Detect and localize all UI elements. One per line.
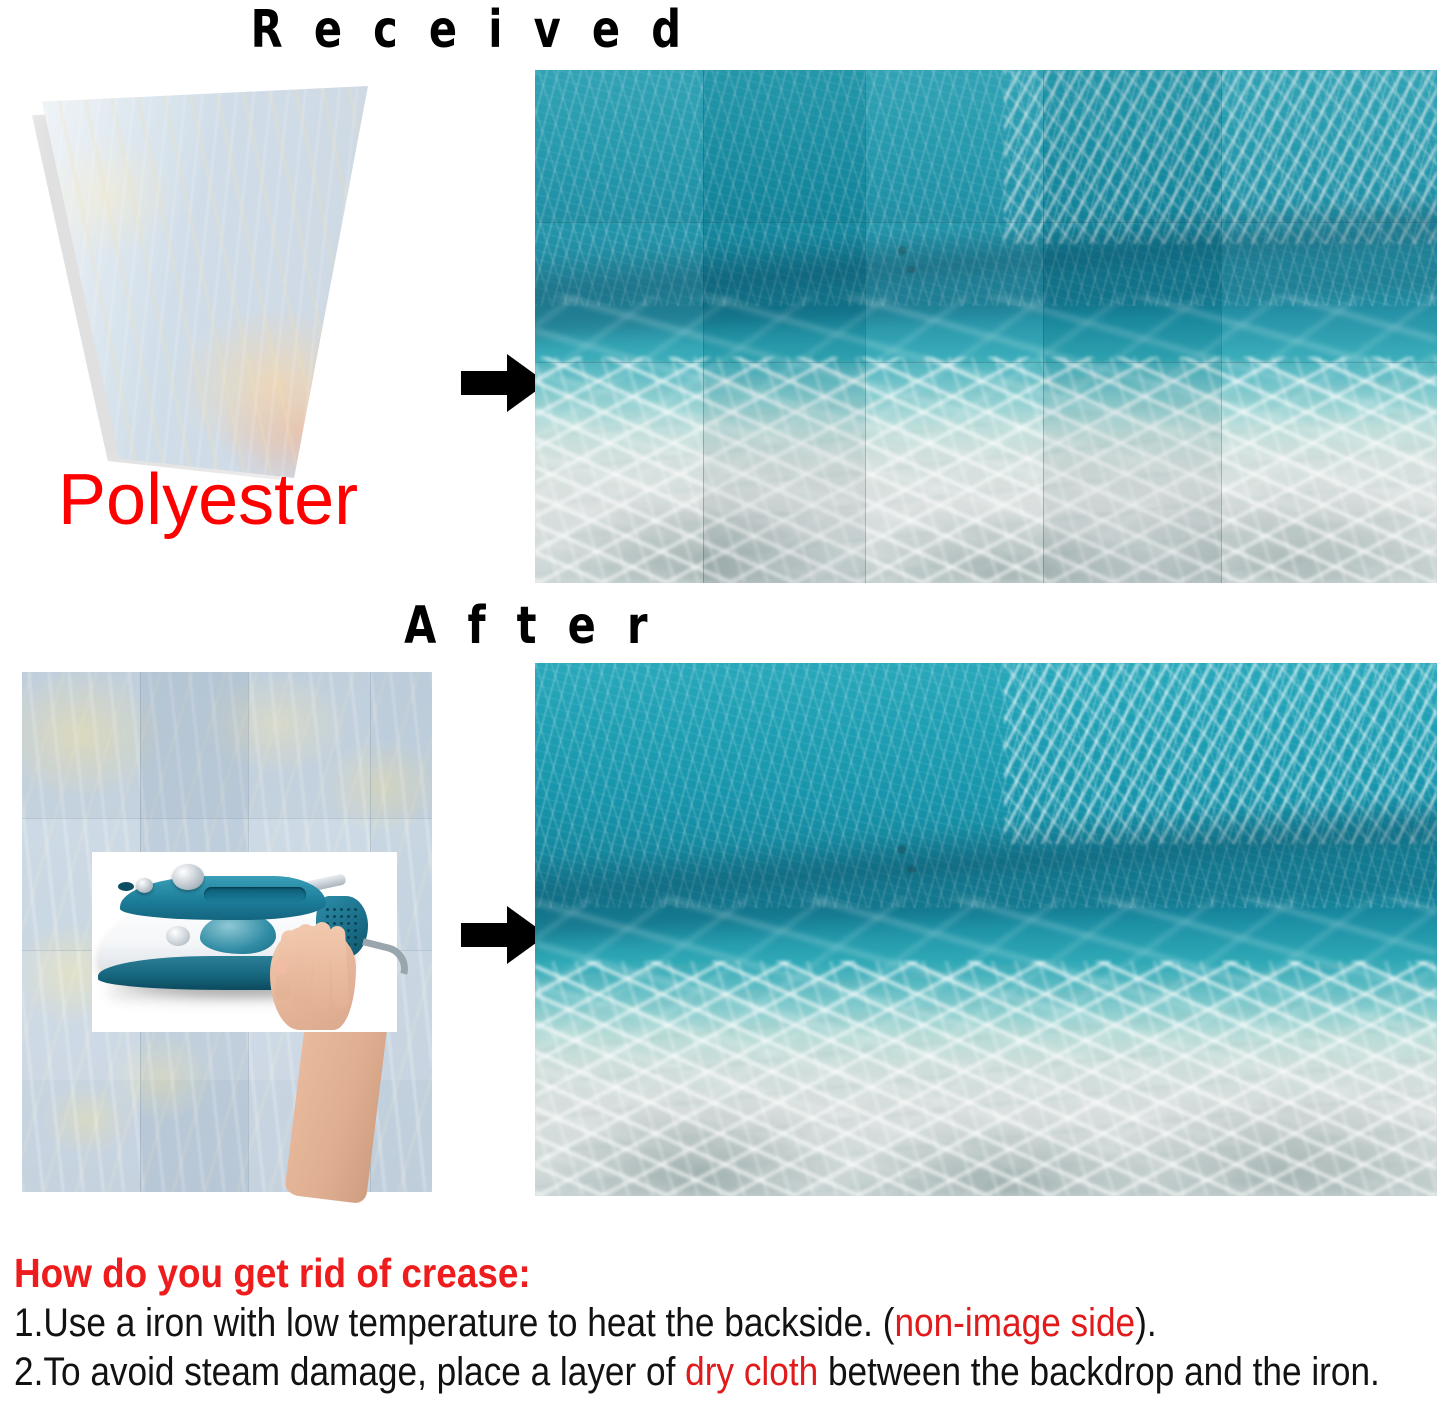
- highlighted-text: dry cloth: [685, 1350, 818, 1394]
- swatch-veining: [32, 86, 368, 478]
- iron-handle-slot: [204, 887, 306, 902]
- iron-temperature-dial: [166, 926, 190, 946]
- fold-crease-horizontal: [535, 222, 1437, 223]
- fold-crease-horizontal: [535, 362, 1437, 363]
- after-backdrop-photo: [535, 663, 1437, 1196]
- sand-caustics: [535, 961, 1437, 1196]
- iron-spray-knob: [172, 864, 204, 890]
- fold-crease-vertical: [1043, 70, 1044, 583]
- arrow-shaft: [461, 923, 513, 947]
- iron-water-tank: [200, 914, 276, 954]
- thumb: [274, 958, 287, 975]
- steam-iron-photo: [92, 852, 397, 1032]
- step-text: 2.To avoid steam damage, place a layer o…: [14, 1350, 685, 1394]
- fold-crease-vertical: [703, 70, 704, 583]
- instructions-heading: How do you get rid of crease:: [14, 1249, 1292, 1297]
- iron-illustration: [92, 852, 397, 1032]
- step-text: ).: [1135, 1301, 1157, 1345]
- fold-crease-vertical: [865, 70, 866, 583]
- after-heading: A f t e r: [106, 598, 954, 654]
- fold-crease-vertical: [1221, 70, 1222, 583]
- instruction-step-2: 2.To avoid steam damage, place a layer o…: [14, 1350, 1264, 1395]
- water-speck: [898, 845, 906, 854]
- iron-indicator-light: [118, 882, 134, 891]
- arrow-shaft: [461, 371, 513, 395]
- polyester-swatch-image: [14, 78, 434, 488]
- iron-steam-button: [136, 878, 153, 893]
- water-speck: [907, 866, 916, 873]
- highlighted-text: non-image side: [894, 1301, 1135, 1345]
- instruction-step-1: 1.Use a iron with low temperature to hea…: [14, 1301, 1264, 1346]
- finger: [312, 922, 331, 1010]
- fold-panel-row: [535, 70, 1437, 222]
- received-backdrop-photo: [535, 70, 1437, 583]
- received-heading: R e c e i v e d: [94, 2, 846, 58]
- step-text: 1.Use a iron with low temperature to hea…: [14, 1301, 894, 1345]
- instructions-block: How do you get rid of crease: 1.Use a ir…: [14, 1249, 1434, 1395]
- swatch-surface: [32, 86, 368, 478]
- step-text: between the backdrop and the iron.: [818, 1350, 1380, 1394]
- polyester-caption: Polyester: [58, 462, 358, 538]
- fold-panel-row: [535, 362, 1437, 512]
- fold-crease-horizontal: [22, 818, 432, 819]
